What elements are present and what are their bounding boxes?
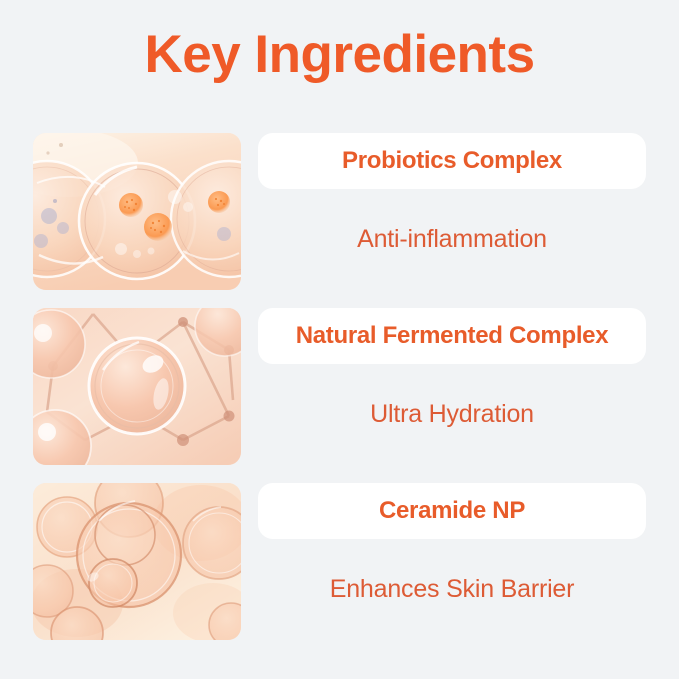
ingredient-benefit: Ultra Hydration: [370, 400, 534, 429]
molecular-lattice-spheres-image: [33, 308, 241, 465]
ingredient-name: Natural Fermented Complex: [296, 322, 609, 350]
page-title-container: Key Ingredients: [0, 28, 679, 81]
ingredient-row: Probiotics Complex Anti-inflammation: [0, 133, 679, 290]
probiotic-cells-bubbles-image: [33, 133, 241, 290]
ingredient-list: Probiotics Complex Anti-inflammation: [0, 133, 679, 640]
ingredient-benefit-container: Enhances Skin Barrier: [258, 539, 646, 640]
key-ingredients-infographic: Key Ingredients: [0, 0, 679, 679]
ingredient-name-card: Probiotics Complex: [258, 133, 646, 189]
ingredient-name-card: Ceramide NP: [258, 483, 646, 539]
ingredient-benefit: Anti-inflammation: [357, 225, 547, 254]
ingredient-benefit-container: Anti-inflammation: [258, 189, 646, 290]
page-title: Key Ingredients: [0, 28, 679, 81]
ingredient-text-column: Probiotics Complex Anti-inflammation: [258, 133, 646, 290]
ingredient-row: Ceramide NP Enhances Skin Barrier: [0, 483, 679, 640]
ingredient-row: Natural Fermented Complex Ultra Hydratio…: [0, 308, 679, 465]
ingredient-name-card: Natural Fermented Complex: [258, 308, 646, 364]
translucent-bubbles-image: [33, 483, 241, 640]
ingredient-benefit: Enhances Skin Barrier: [330, 575, 575, 604]
ingredient-name: Probiotics Complex: [342, 147, 562, 175]
ingredient-text-column: Natural Fermented Complex Ultra Hydratio…: [258, 308, 646, 465]
ingredient-text-column: Ceramide NP Enhances Skin Barrier: [258, 483, 646, 640]
ingredient-name: Ceramide NP: [379, 497, 525, 525]
ingredient-benefit-container: Ultra Hydration: [258, 364, 646, 465]
